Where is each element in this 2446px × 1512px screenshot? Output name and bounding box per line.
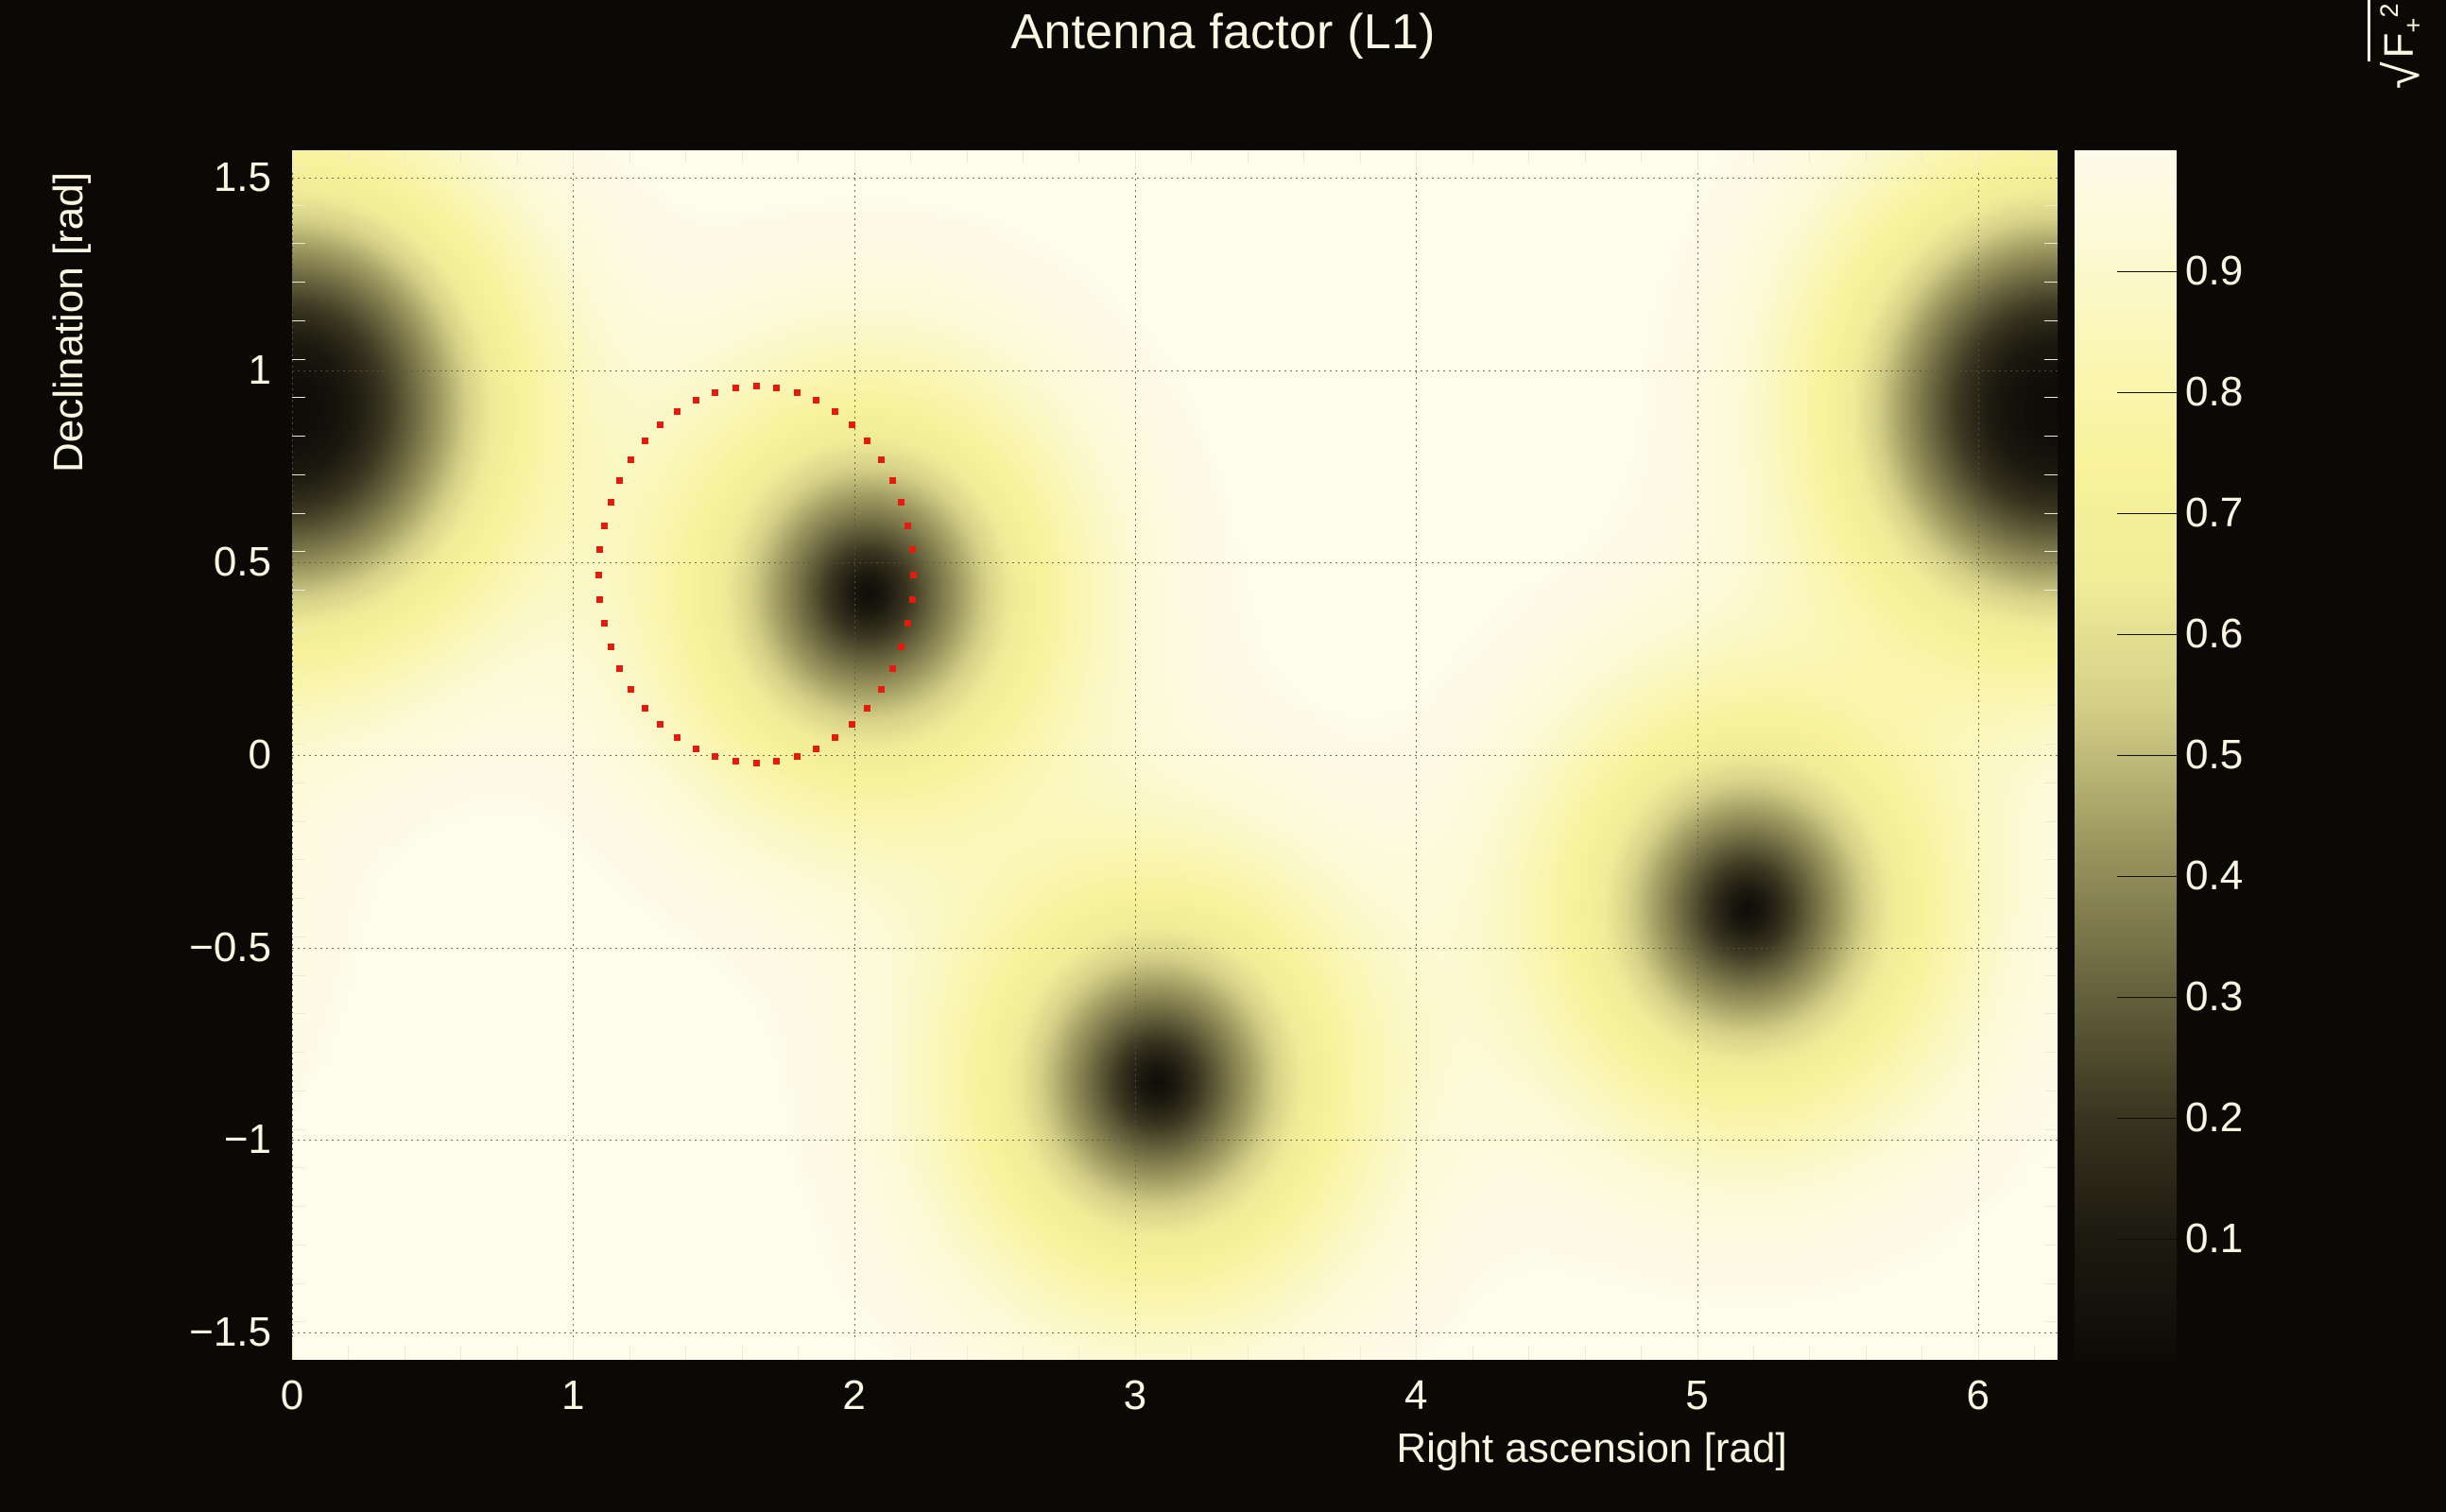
colorbar-tick-label: 0.6 xyxy=(2185,610,2243,658)
x-tick-label: 1 xyxy=(561,1372,584,1419)
heatmap-image xyxy=(292,150,2058,1360)
heatmap-bitmap xyxy=(292,150,2058,1360)
colorbar-tick-label: 0.7 xyxy=(2185,490,2243,537)
x-tick-label: 4 xyxy=(1404,1372,1427,1419)
x-tick-label: 6 xyxy=(1967,1372,1990,1419)
sqrt-icon: √ xyxy=(2381,61,2425,89)
colorbar-tick-label: 0.4 xyxy=(2185,852,2243,900)
colorbar-tick xyxy=(2117,755,2177,756)
y-axis-title: Declination [rad] xyxy=(45,172,93,472)
y-tick-label: 0.5 xyxy=(214,539,271,586)
x-tick-label: 2 xyxy=(842,1372,865,1419)
y-tick-label: 1 xyxy=(249,347,271,394)
colorbar-tick-label: 0.5 xyxy=(2185,731,2243,779)
plot-canvas: Antenna factor (L1) 0123456 1.510.50−0.5… xyxy=(0,0,2446,1512)
colorbar-tick-label: 0.8 xyxy=(2185,369,2243,416)
colorbar-tick xyxy=(2117,392,2177,393)
colorbar-tick-label: 0.2 xyxy=(2185,1094,2243,1142)
colorbar-tick xyxy=(2117,513,2177,514)
colorbar-tick xyxy=(2117,271,2177,272)
y-tick-label: −0.5 xyxy=(189,924,271,971)
colorbar-tick xyxy=(2117,1118,2177,1119)
y-tick-label: 0 xyxy=(249,731,271,779)
colorbar-tick xyxy=(2117,634,2177,635)
colorbar-tick xyxy=(2117,1239,2177,1240)
y-tick-label: 1.5 xyxy=(214,154,271,201)
x-tick-label: 0 xyxy=(281,1372,303,1419)
page-title: Antenna factor (L1) xyxy=(0,4,2446,60)
colorbar-tick-label: 0.1 xyxy=(2185,1215,2243,1263)
x-tick-label: 5 xyxy=(1685,1372,1708,1419)
colorbar-tick xyxy=(2117,997,2177,998)
sqrt-expression: √F+2 + Fx2 xyxy=(2368,0,2428,94)
x-axis-title: Right ascension [rad] xyxy=(1396,1425,1786,1472)
colorbar-tick xyxy=(2117,876,2177,877)
colorbar-tick-label: 0.3 xyxy=(2185,973,2243,1021)
y-tick-label: −1.5 xyxy=(189,1309,271,1356)
sqrt-radicand: F+2 + Fx2 xyxy=(2368,0,2428,61)
colorbar-title: √F+2 + Fx2 xyxy=(2368,0,2428,94)
y-tick-label: −1 xyxy=(224,1116,271,1163)
heatmap-plot-area xyxy=(292,150,2058,1360)
x-tick-label: 3 xyxy=(1124,1372,1146,1419)
colorbar-tick-label: 0.9 xyxy=(2185,248,2243,295)
